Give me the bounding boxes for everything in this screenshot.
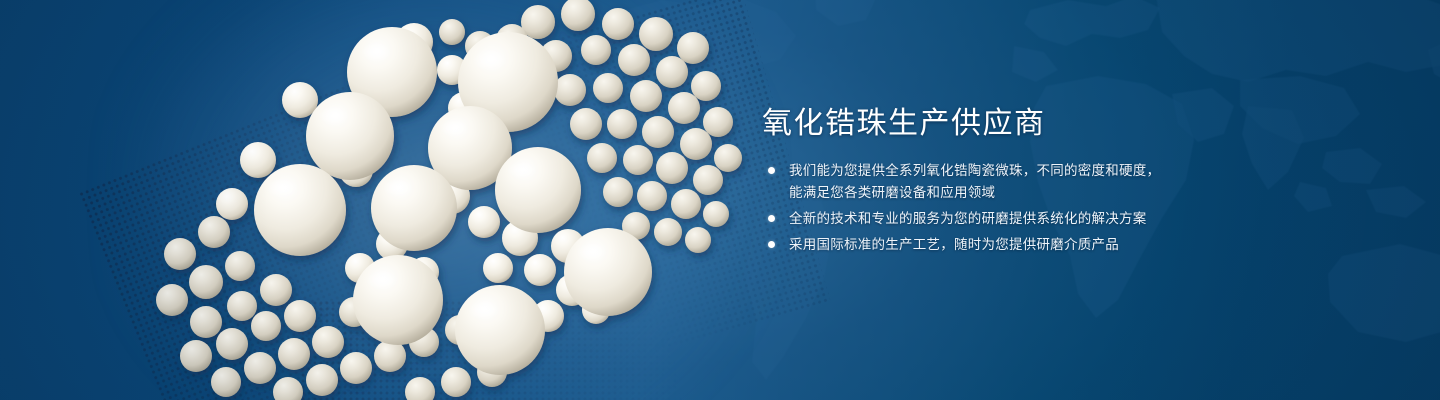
- page-title: 氧化锆珠生产供应商: [762, 104, 1362, 144]
- feature-list: 我们能为您提供全系列氧化锆陶瓷微珠，不同的密度和硬度， 能满足您各类研磨设备和应…: [762, 160, 1362, 255]
- list-item: 全新的技术和专业的服务为您的研磨提供系统化的解决方案: [762, 208, 1362, 229]
- list-item-line: 全新的技术和专业的服务为您的研磨提供系统化的解决方案: [789, 208, 1362, 229]
- list-item: 采用国际标准的生产工艺，随时为您提供研磨介质产品: [762, 234, 1362, 255]
- list-item-line: 能满足您各类研磨设备和应用领域: [789, 182, 1362, 203]
- bullet-dot-icon: [768, 215, 775, 222]
- list-item-line: 我们能为您提供全系列氧化锆陶瓷微珠，不同的密度和硬度，: [789, 160, 1362, 181]
- list-item-line: 采用国际标准的生产工艺，随时为您提供研磨介质产品: [789, 234, 1362, 255]
- bullet-dot-icon: [768, 241, 775, 248]
- promo-banner: 氧化锆珠生产供应商 我们能为您提供全系列氧化锆陶瓷微珠，不同的密度和硬度， 能满…: [0, 0, 1440, 400]
- banner-copy: 氧化锆珠生产供应商 我们能为您提供全系列氧化锆陶瓷微珠，不同的密度和硬度， 能满…: [762, 104, 1362, 255]
- bullet-dot-icon: [768, 167, 775, 174]
- list-item: 我们能为您提供全系列氧化锆陶瓷微珠，不同的密度和硬度， 能满足您各类研磨设备和应…: [762, 160, 1362, 203]
